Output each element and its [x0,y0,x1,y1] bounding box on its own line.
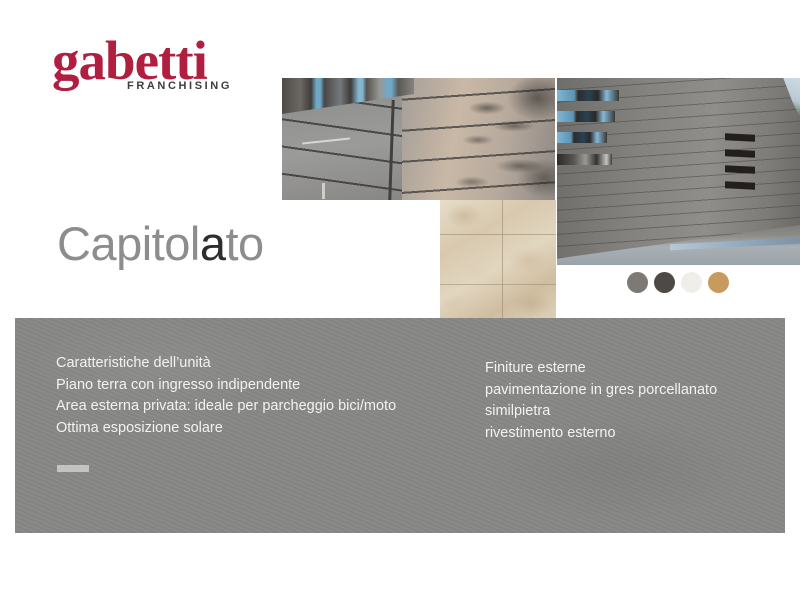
finishes-line-2: similpietra [485,401,717,423]
features-line-1: Piano terra con ingresso indipendente [56,375,396,397]
wall-ribbon-window-1 [557,90,619,101]
wall-sky-tree [760,78,800,118]
wall-ribbon-window-3 [557,132,607,143]
wall-ribbon-window-4 [557,154,612,165]
color-swatch-row [627,272,729,293]
page-title: Capitolato [57,218,264,270]
wall-slot-window-1 [725,133,755,142]
page-title-accent: a [200,217,226,270]
photo-clad-wall [557,78,800,265]
features-line-2: Area esterna privata: ideale per parcheg… [56,396,396,418]
logo-tagline: FRANCHISING [127,80,232,92]
content-band: Caratteristiche dell’unità Piano terra c… [15,318,785,533]
features-line-3: Ottima esposizione solare [56,418,396,440]
swatch-grey-dark[interactable] [654,272,675,293]
features-heading: Caratteristiche dell’unità [56,353,396,375]
features-list: Caratteristiche dell’unità Piano terra c… [56,353,396,439]
page-title-prefix: Capitol [57,217,200,270]
band-divider [57,465,89,472]
gabetti-logo: gabetti FRANCHISING [52,33,262,103]
photo-stone-tiles [440,200,556,318]
finishes-line-3: rivestimento esterno [485,423,717,445]
wall-slot-window-3 [725,165,755,174]
facade-railing-post [322,183,325,199]
finishes-list: Finiture esterne pavimentazione in gres … [485,358,717,444]
swatch-grey-medium[interactable] [627,272,648,293]
swatch-white-cream[interactable] [681,272,702,293]
photo-facade-corner [282,78,555,200]
wall-ribbon-window-2 [557,111,615,122]
finishes-heading: Finiture esterne [485,358,717,380]
page-title-suffix: to [225,217,263,270]
swatch-tan-beige[interactable] [708,272,729,293]
slide-canvas: gabetti FRANCHISING Capitolato [0,0,800,600]
wall-slot-window-4 [725,181,755,190]
finishes-line-1: pavimentazione in gres porcellanato [485,380,717,402]
wall-slot-window-2 [725,149,755,158]
